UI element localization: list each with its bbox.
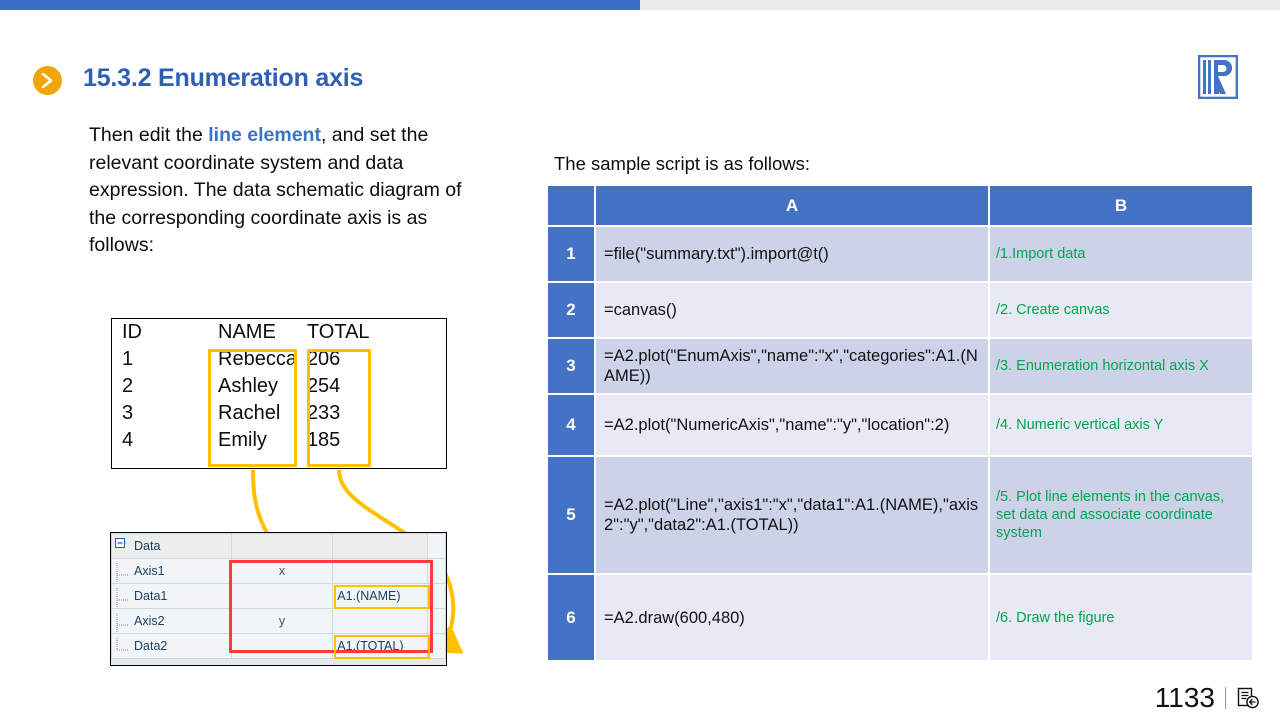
script-table: A B 1 =file("summary.txt").import@t() /1… bbox=[548, 186, 1252, 660]
property-row-axis2[interactable]: Axis2 y bbox=[112, 609, 446, 634]
element-property-panel[interactable]: Data Axis1 x bbox=[110, 532, 447, 666]
property-label: Data1 bbox=[134, 589, 167, 603]
script-row: 3 =A2.plot("EnumAxis","name":"x","catego… bbox=[548, 338, 1252, 394]
property-root-mid bbox=[231, 534, 333, 559]
top-accent-bar bbox=[0, 0, 1280, 10]
script-column-header-b[interactable]: B bbox=[989, 186, 1252, 226]
column-header-total: TOTAL bbox=[297, 319, 370, 346]
table-row: 4 Emily 185 bbox=[112, 427, 446, 454]
property-value-cell[interactable] bbox=[333, 609, 427, 634]
page-number: 1133 bbox=[1155, 682, 1215, 714]
script-cell-a[interactable]: =canvas() bbox=[595, 282, 989, 338]
document-back-icon[interactable] bbox=[1236, 686, 1260, 710]
tree-branch-end-icon bbox=[115, 638, 129, 659]
intro-highlight: line element bbox=[208, 124, 321, 146]
property-tail-cell bbox=[427, 634, 445, 659]
property-row-data1[interactable]: Data1 A1.(NAME) bbox=[112, 584, 446, 609]
property-row-data2[interactable]: Data2 A1.(TOTAL) bbox=[112, 634, 446, 659]
script-cell-a[interactable]: =file("summary.txt").import@t() bbox=[595, 226, 989, 282]
property-root-label: Data bbox=[134, 539, 160, 553]
cell-name: Rachel bbox=[208, 400, 297, 427]
top-accent-bar-fill bbox=[0, 0, 640, 10]
property-tail-cell bbox=[427, 559, 445, 584]
script-cell-b[interactable]: /1.Import data bbox=[989, 226, 1252, 282]
page-footer: 1133 bbox=[1155, 682, 1260, 714]
property-mid-value[interactable]: y bbox=[231, 609, 333, 634]
script-row-number[interactable]: 6 bbox=[548, 574, 595, 660]
tree-branch-icon bbox=[115, 588, 129, 609]
table-header-row: ID NAME TOTAL bbox=[112, 319, 446, 346]
cell-id: 1 bbox=[112, 346, 208, 373]
property-root-cell[interactable]: Data bbox=[112, 534, 232, 559]
page-title: 15.3.2 Enumeration axis bbox=[83, 64, 363, 93]
property-value-cell[interactable]: A1.(TOTAL) bbox=[333, 634, 427, 659]
script-row: 1 =file("summary.txt").import@t() /1.Imp… bbox=[548, 226, 1252, 282]
intro-before: Then edit the bbox=[89, 124, 208, 146]
cell-total: 233 bbox=[297, 400, 370, 427]
script-row-number[interactable]: 5 bbox=[548, 456, 595, 574]
table-row: 3 Rachel 233 bbox=[112, 400, 446, 427]
column-header-id: ID bbox=[112, 319, 208, 346]
page-header: 15.3.2 Enumeration axis bbox=[0, 26, 1280, 92]
property-label: Data2 bbox=[134, 639, 167, 653]
cell-name: Ashley bbox=[208, 373, 297, 400]
property-value-cell[interactable] bbox=[333, 559, 427, 584]
chevron-right-circle-icon bbox=[33, 66, 62, 95]
property-tail-cell bbox=[427, 609, 445, 634]
table-row: 1 Rebecca 206 bbox=[112, 346, 446, 373]
sample-data-table: ID NAME TOTAL 1 Rebecca 206 2 Ashley 254… bbox=[111, 318, 447, 469]
script-cell-a[interactable]: =A2.draw(600,480) bbox=[595, 574, 989, 660]
script-row-number[interactable]: 1 bbox=[548, 226, 595, 282]
script-corner-cell bbox=[548, 186, 595, 226]
property-root-value bbox=[333, 534, 427, 559]
script-cell-b[interactable]: /3. Enumeration horizontal axis X bbox=[989, 338, 1252, 394]
cell-name: Rebecca bbox=[208, 346, 297, 373]
property-label-cell[interactable]: Data1 bbox=[112, 584, 232, 609]
minus-box-icon[interactable] bbox=[115, 538, 127, 553]
script-row: 5 =A2.plot("Line","axis1":"x","data1":A1… bbox=[548, 456, 1252, 574]
cell-id: 2 bbox=[112, 373, 208, 400]
script-cell-a[interactable]: =A2.plot("NumericAxis","name":"y","locat… bbox=[595, 394, 989, 456]
script-cell-b[interactable]: /6. Draw the figure bbox=[989, 574, 1252, 660]
property-tail-cell bbox=[427, 584, 445, 609]
raqsoft-book-r-logo bbox=[1198, 55, 1238, 99]
script-row-number[interactable]: 4 bbox=[548, 394, 595, 456]
cell-total: 185 bbox=[297, 427, 370, 454]
tree-branch-icon bbox=[115, 563, 129, 584]
property-label: Axis2 bbox=[134, 614, 165, 628]
cell-total: 206 bbox=[297, 346, 370, 373]
property-label-cell[interactable]: Data2 bbox=[112, 634, 232, 659]
top-accent-bar-track bbox=[640, 0, 1280, 10]
script-cell-a[interactable]: =A2.plot("Line","axis1":"x","data1":A1.(… bbox=[595, 456, 989, 574]
cell-id: 3 bbox=[112, 400, 208, 427]
property-row-axis1[interactable]: Axis1 x bbox=[112, 559, 446, 584]
property-root-row[interactable]: Data bbox=[112, 534, 446, 559]
script-cell-b[interactable]: /2. Create canvas bbox=[989, 282, 1252, 338]
property-label-cell[interactable]: Axis2 bbox=[112, 609, 232, 634]
property-mid-value[interactable] bbox=[231, 584, 333, 609]
script-row-number[interactable]: 2 bbox=[548, 282, 595, 338]
property-label-cell[interactable]: Axis1 bbox=[112, 559, 232, 584]
script-cell-b[interactable]: /4. Numeric vertical axis Y bbox=[989, 394, 1252, 456]
property-mid-value[interactable]: x bbox=[231, 559, 333, 584]
table-row: 2 Ashley 254 bbox=[112, 373, 446, 400]
cell-name: Emily bbox=[208, 427, 297, 454]
property-root-tail bbox=[427, 534, 445, 559]
cell-id: 4 bbox=[112, 427, 208, 454]
property-value-cell[interactable]: A1.(NAME) bbox=[333, 584, 427, 609]
script-caption: The sample script is as follows: bbox=[554, 153, 810, 175]
tree-branch-icon bbox=[115, 613, 129, 634]
script-column-header-a[interactable]: A bbox=[595, 186, 989, 226]
script-cell-b[interactable]: /5. Plot line elements in the canvas, se… bbox=[989, 456, 1252, 574]
intro-paragraph: Then edit the line element, and set the … bbox=[89, 122, 481, 260]
script-row: 6 =A2.draw(600,480) /6. Draw the figure bbox=[548, 574, 1252, 660]
column-header-name: NAME bbox=[208, 319, 297, 346]
script-row-number[interactable]: 3 bbox=[548, 338, 595, 394]
script-cell-a[interactable]: =A2.plot("EnumAxis","name":"x","categori… bbox=[595, 338, 989, 394]
script-row: 4 =A2.plot("NumericAxis","name":"y","loc… bbox=[548, 394, 1252, 456]
panel-bottom-strip bbox=[111, 658, 446, 665]
property-mid-value[interactable] bbox=[231, 634, 333, 659]
script-row: 2 =canvas() /2. Create canvas bbox=[548, 282, 1252, 338]
script-header-row: A B bbox=[548, 186, 1252, 226]
property-label: Axis1 bbox=[134, 564, 165, 578]
footer-divider bbox=[1225, 687, 1226, 709]
cell-total: 254 bbox=[297, 373, 370, 400]
